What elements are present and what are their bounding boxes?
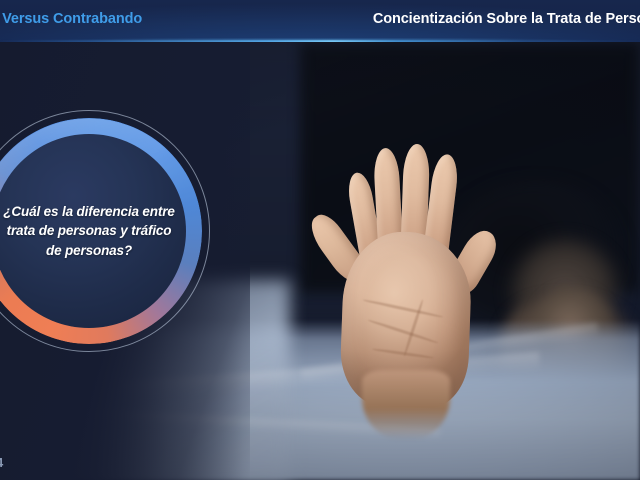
question-circle-callout: ¿Cuál es la diferencia entre trata de pe… xyxy=(0,108,212,354)
photo-outstretched-hand xyxy=(300,102,560,402)
slide-body: ¿Cuál es la diferencia entre trata de pe… xyxy=(0,42,640,480)
slide-header: Trata Versus Contrabando Concientización… xyxy=(0,0,640,42)
header-right-title: Concientización Sobre la Trata de Person… xyxy=(373,11,640,27)
page-number: 4 xyxy=(0,455,3,470)
presentation-slide: Trata Versus Contrabando Concientización… xyxy=(0,0,640,480)
header-left-title: Trata Versus Contrabando xyxy=(0,11,142,27)
callout-question-text: ¿Cuál es la diferencia entre trata de pe… xyxy=(0,134,186,328)
